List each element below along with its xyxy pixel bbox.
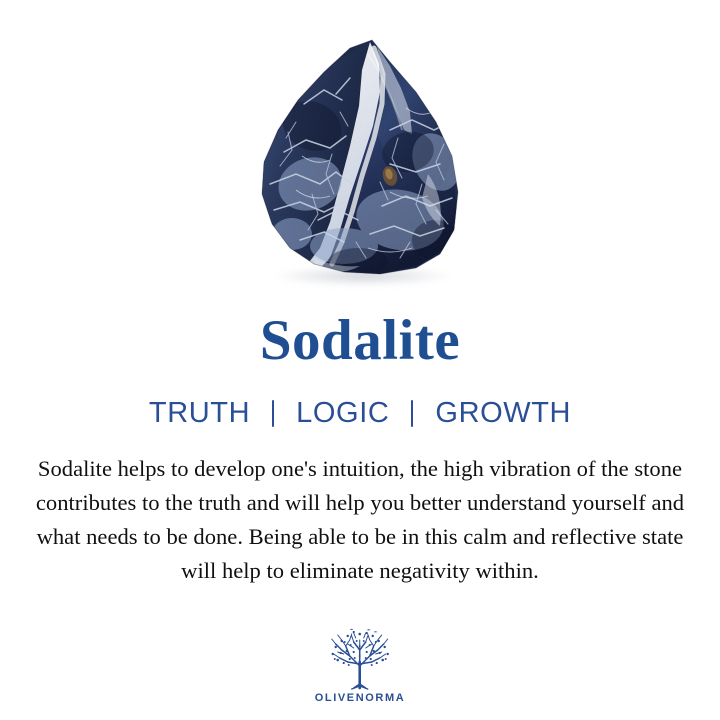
keyword-row: TRUTH LOGIC GROWTH: [149, 399, 571, 428]
keyword-separator-1: [272, 400, 274, 427]
tree-of-life-icon: [324, 628, 396, 690]
brand-logo: OLIVENORMA: [315, 628, 406, 704]
sodalite-info-card: Sodalite TRUTH LOGIC GROWTH Sodalite hel…: [0, 0, 720, 720]
brand-name: OLIVENORMA: [315, 693, 406, 704]
description-text: Sodalite helps to develop one's intuitio…: [25, 452, 695, 588]
sodalite-crystal-image: [240, 34, 480, 296]
page-title: Sodalite: [260, 312, 460, 369]
keyword-growth: GROWTH: [435, 399, 571, 428]
hero-image-block: [0, 0, 720, 300]
keyword-truth: TRUTH: [149, 399, 250, 428]
keyword-separator-2: [411, 400, 413, 427]
crystal-stage: [240, 34, 480, 296]
keyword-logic: LOGIC: [296, 399, 389, 428]
